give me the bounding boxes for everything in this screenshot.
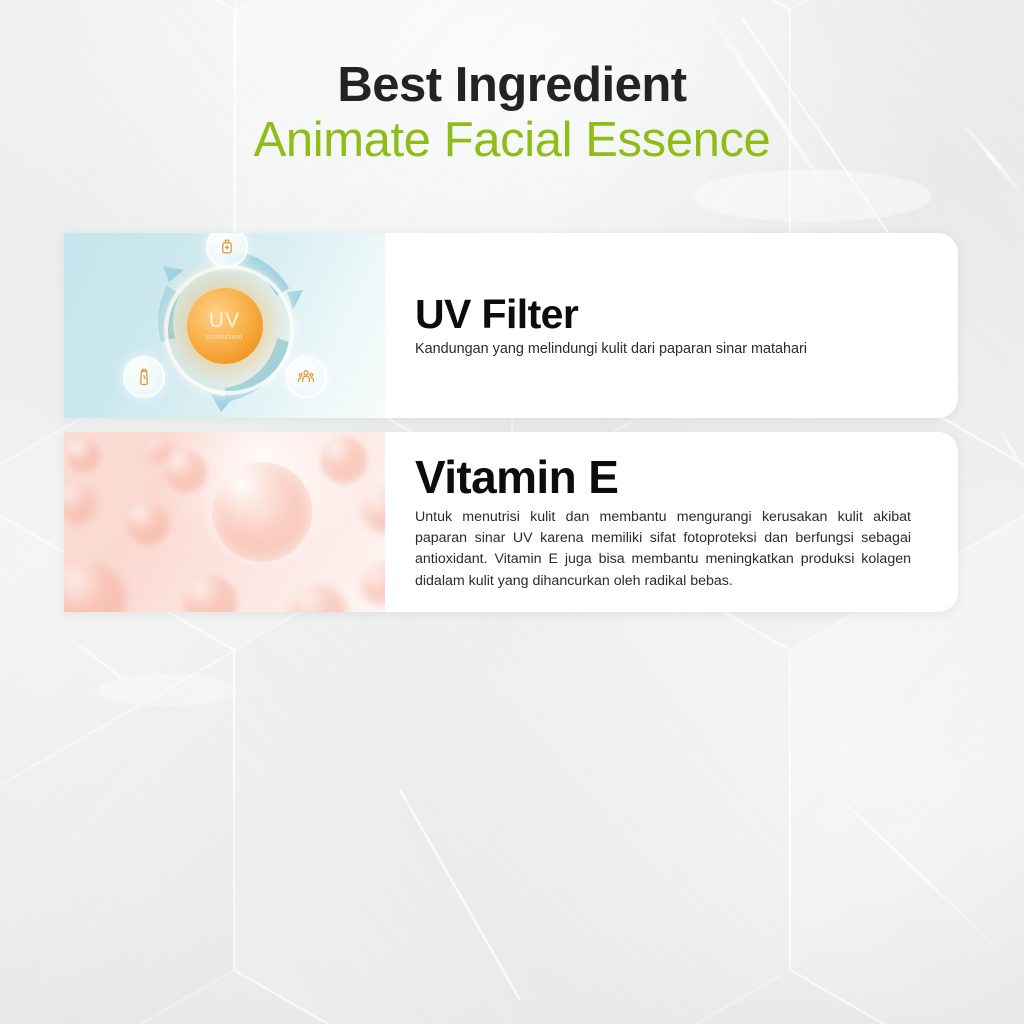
bubble-decoration [320,436,368,484]
ingredient-card-vitamin-e[interactable]: Vitamin E Untuk menutrisi kulit dan memb… [64,432,958,612]
ingredient-card-uv-filter[interactable]: UV protection [64,233,958,418]
vitamin-e-bubbles-illustration [64,432,385,612]
bubble-decoration [126,502,171,547]
uv-sun-primary-label: UV [209,310,240,331]
bubble-decoration [64,560,128,612]
uv-protection-illustration: UV protection [64,233,385,418]
sun-cream-tube-icon [123,356,165,398]
ingredient-infographic-poster: Best Ingredient Animate Facial Essence [0,0,1024,1024]
bubble-decoration [64,484,98,526]
vitamin-e-description: Untuk menutrisi kulit dan membantu mengu… [415,507,911,592]
uv-cycle-ring: UV protection [137,238,313,414]
vitamin-e-title: Vitamin E [415,454,920,501]
bubble-decoration [288,584,348,612]
bubble-decoration [360,562,385,606]
page-subtitle: Animate Facial Essence [0,112,1024,170]
uv-filter-description: Kandungan yang melindungi kulit dari pap… [415,339,920,361]
poster-heading-block: Best Ingredient Animate Facial Essence [0,60,1024,170]
page-title: Best Ingredient [0,60,1024,112]
bubble-decoration [182,574,238,612]
bubble-decoration [362,488,385,534]
bubble-decoration [66,438,102,474]
bubble-main [212,462,312,562]
bubble-decoration [146,438,172,464]
uv-sun-secondary-label: protection [206,334,243,341]
uv-filter-card-content: UV Filter Kandungan yang melindungi kuli… [385,233,958,418]
uv-protection-sun-icon: UV protection [187,288,263,364]
vitamin-e-card-content: Vitamin E Untuk menutrisi kulit dan memb… [385,432,958,612]
ingredient-card-list: UV protection [64,233,958,612]
sun-people-icon [285,356,327,398]
uv-filter-title: UV Filter [415,294,920,336]
